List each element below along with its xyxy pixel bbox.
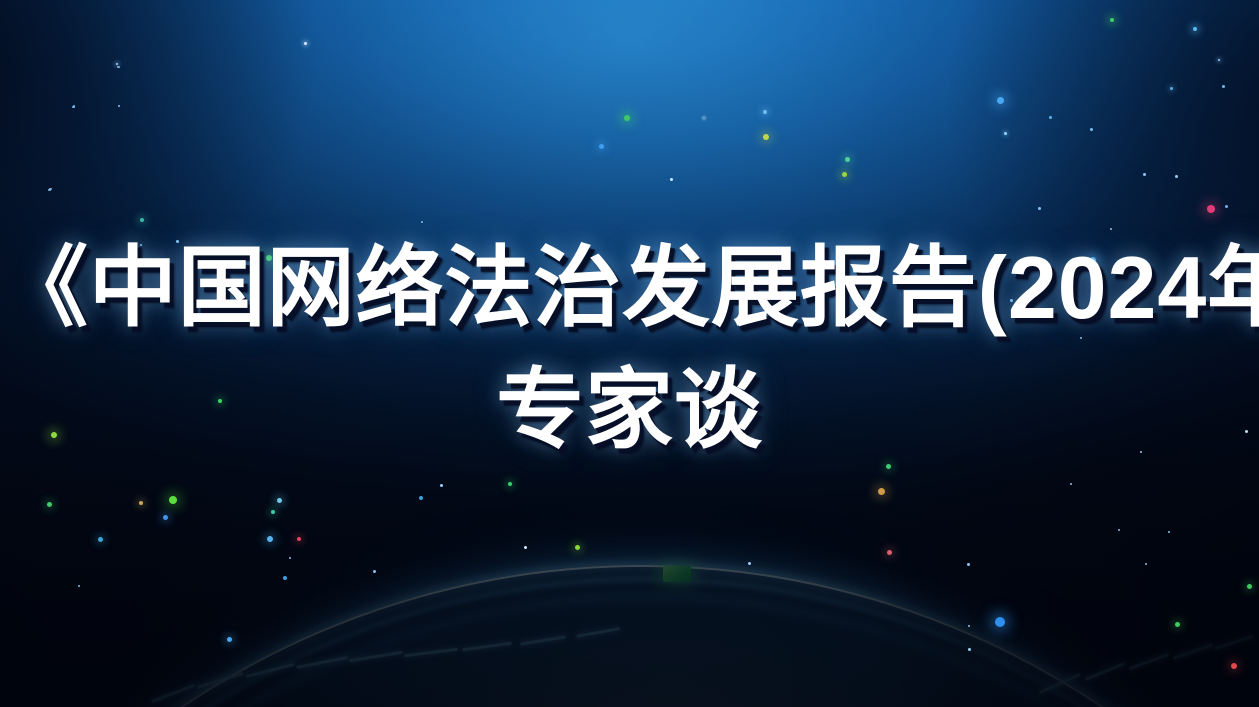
background-corner-vignette xyxy=(0,0,1259,707)
poster-canvas: 《中国网络法治发展报告(2024年)》 专家谈 xyxy=(0,0,1259,707)
